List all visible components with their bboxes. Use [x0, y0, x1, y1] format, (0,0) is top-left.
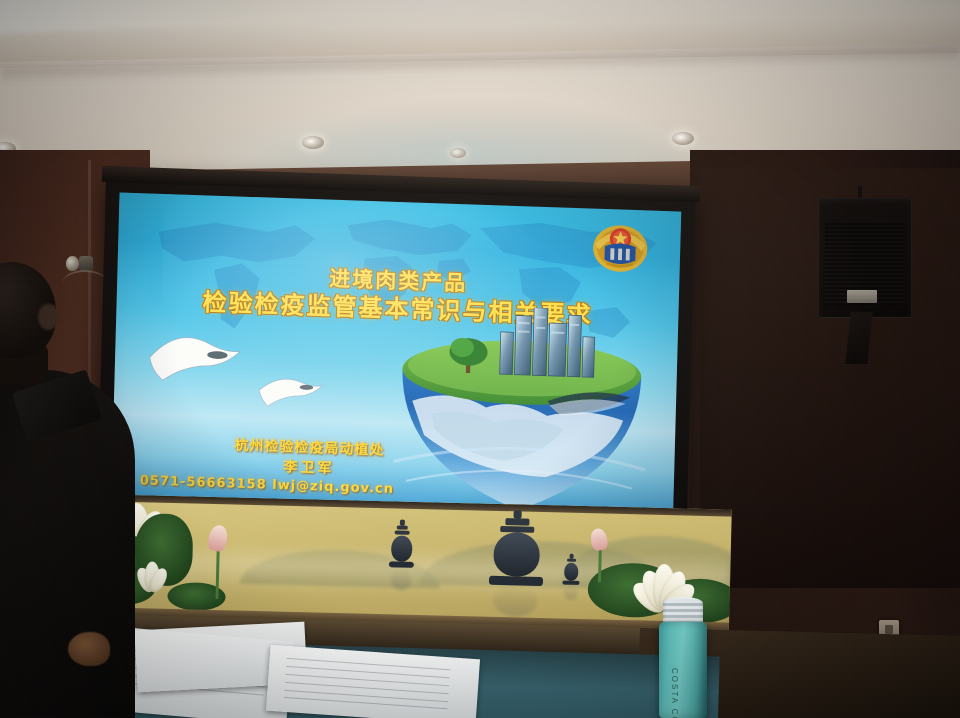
mural-pagoda	[388, 519, 416, 590]
person-hand	[68, 632, 110, 666]
lotus-mural	[89, 494, 732, 635]
person-ear	[38, 304, 58, 330]
pagoda-body	[493, 532, 540, 577]
seagulls-graphic	[143, 314, 369, 389]
foreground-person	[0, 262, 135, 718]
thermos-flask[interactable]: COSTA COFFEE	[657, 600, 709, 718]
downlight-icon	[672, 132, 694, 145]
pagoda-body	[391, 535, 413, 562]
slide-canvas: 进境肉类产品 检验检疫监管基本常识与相关要求	[110, 192, 681, 546]
photo-scene: 进境肉类产品 检验检疫监管基本常识与相关要求	[0, 0, 960, 718]
pagoda-tier	[395, 530, 410, 534]
thermos-brand-label: COSTA COFFEE	[670, 668, 679, 718]
mural-lotus-flower	[130, 557, 175, 592]
pagoda-base	[489, 576, 543, 586]
pagoda-base	[562, 581, 579, 585]
pagoda-reflection	[391, 568, 412, 590]
pagoda-body	[564, 563, 578, 581]
pagoda-base	[389, 561, 414, 568]
pagoda-reflection	[493, 586, 538, 617]
wall-speaker	[818, 198, 912, 318]
mural-pagoda	[562, 554, 581, 600]
downlight-icon	[450, 148, 466, 158]
thermos-body: COSTA COFFEE	[659, 622, 707, 718]
mural-pagoda	[487, 510, 545, 611]
speaker-badge	[847, 290, 877, 303]
pagoda-tier	[397, 525, 408, 529]
pagoda-reflection	[564, 586, 577, 600]
ciq-emblem-icon	[591, 219, 650, 275]
pagoda-tier	[567, 559, 576, 562]
pagoda-finial	[514, 510, 522, 518]
downlight-icon	[302, 136, 324, 149]
slide-presenter-block: 杭州检验检疫局动植处 李卫军 0571-56663158 lwj@ziq.gov…	[140, 432, 479, 503]
pagoda-tier	[505, 518, 529, 526]
